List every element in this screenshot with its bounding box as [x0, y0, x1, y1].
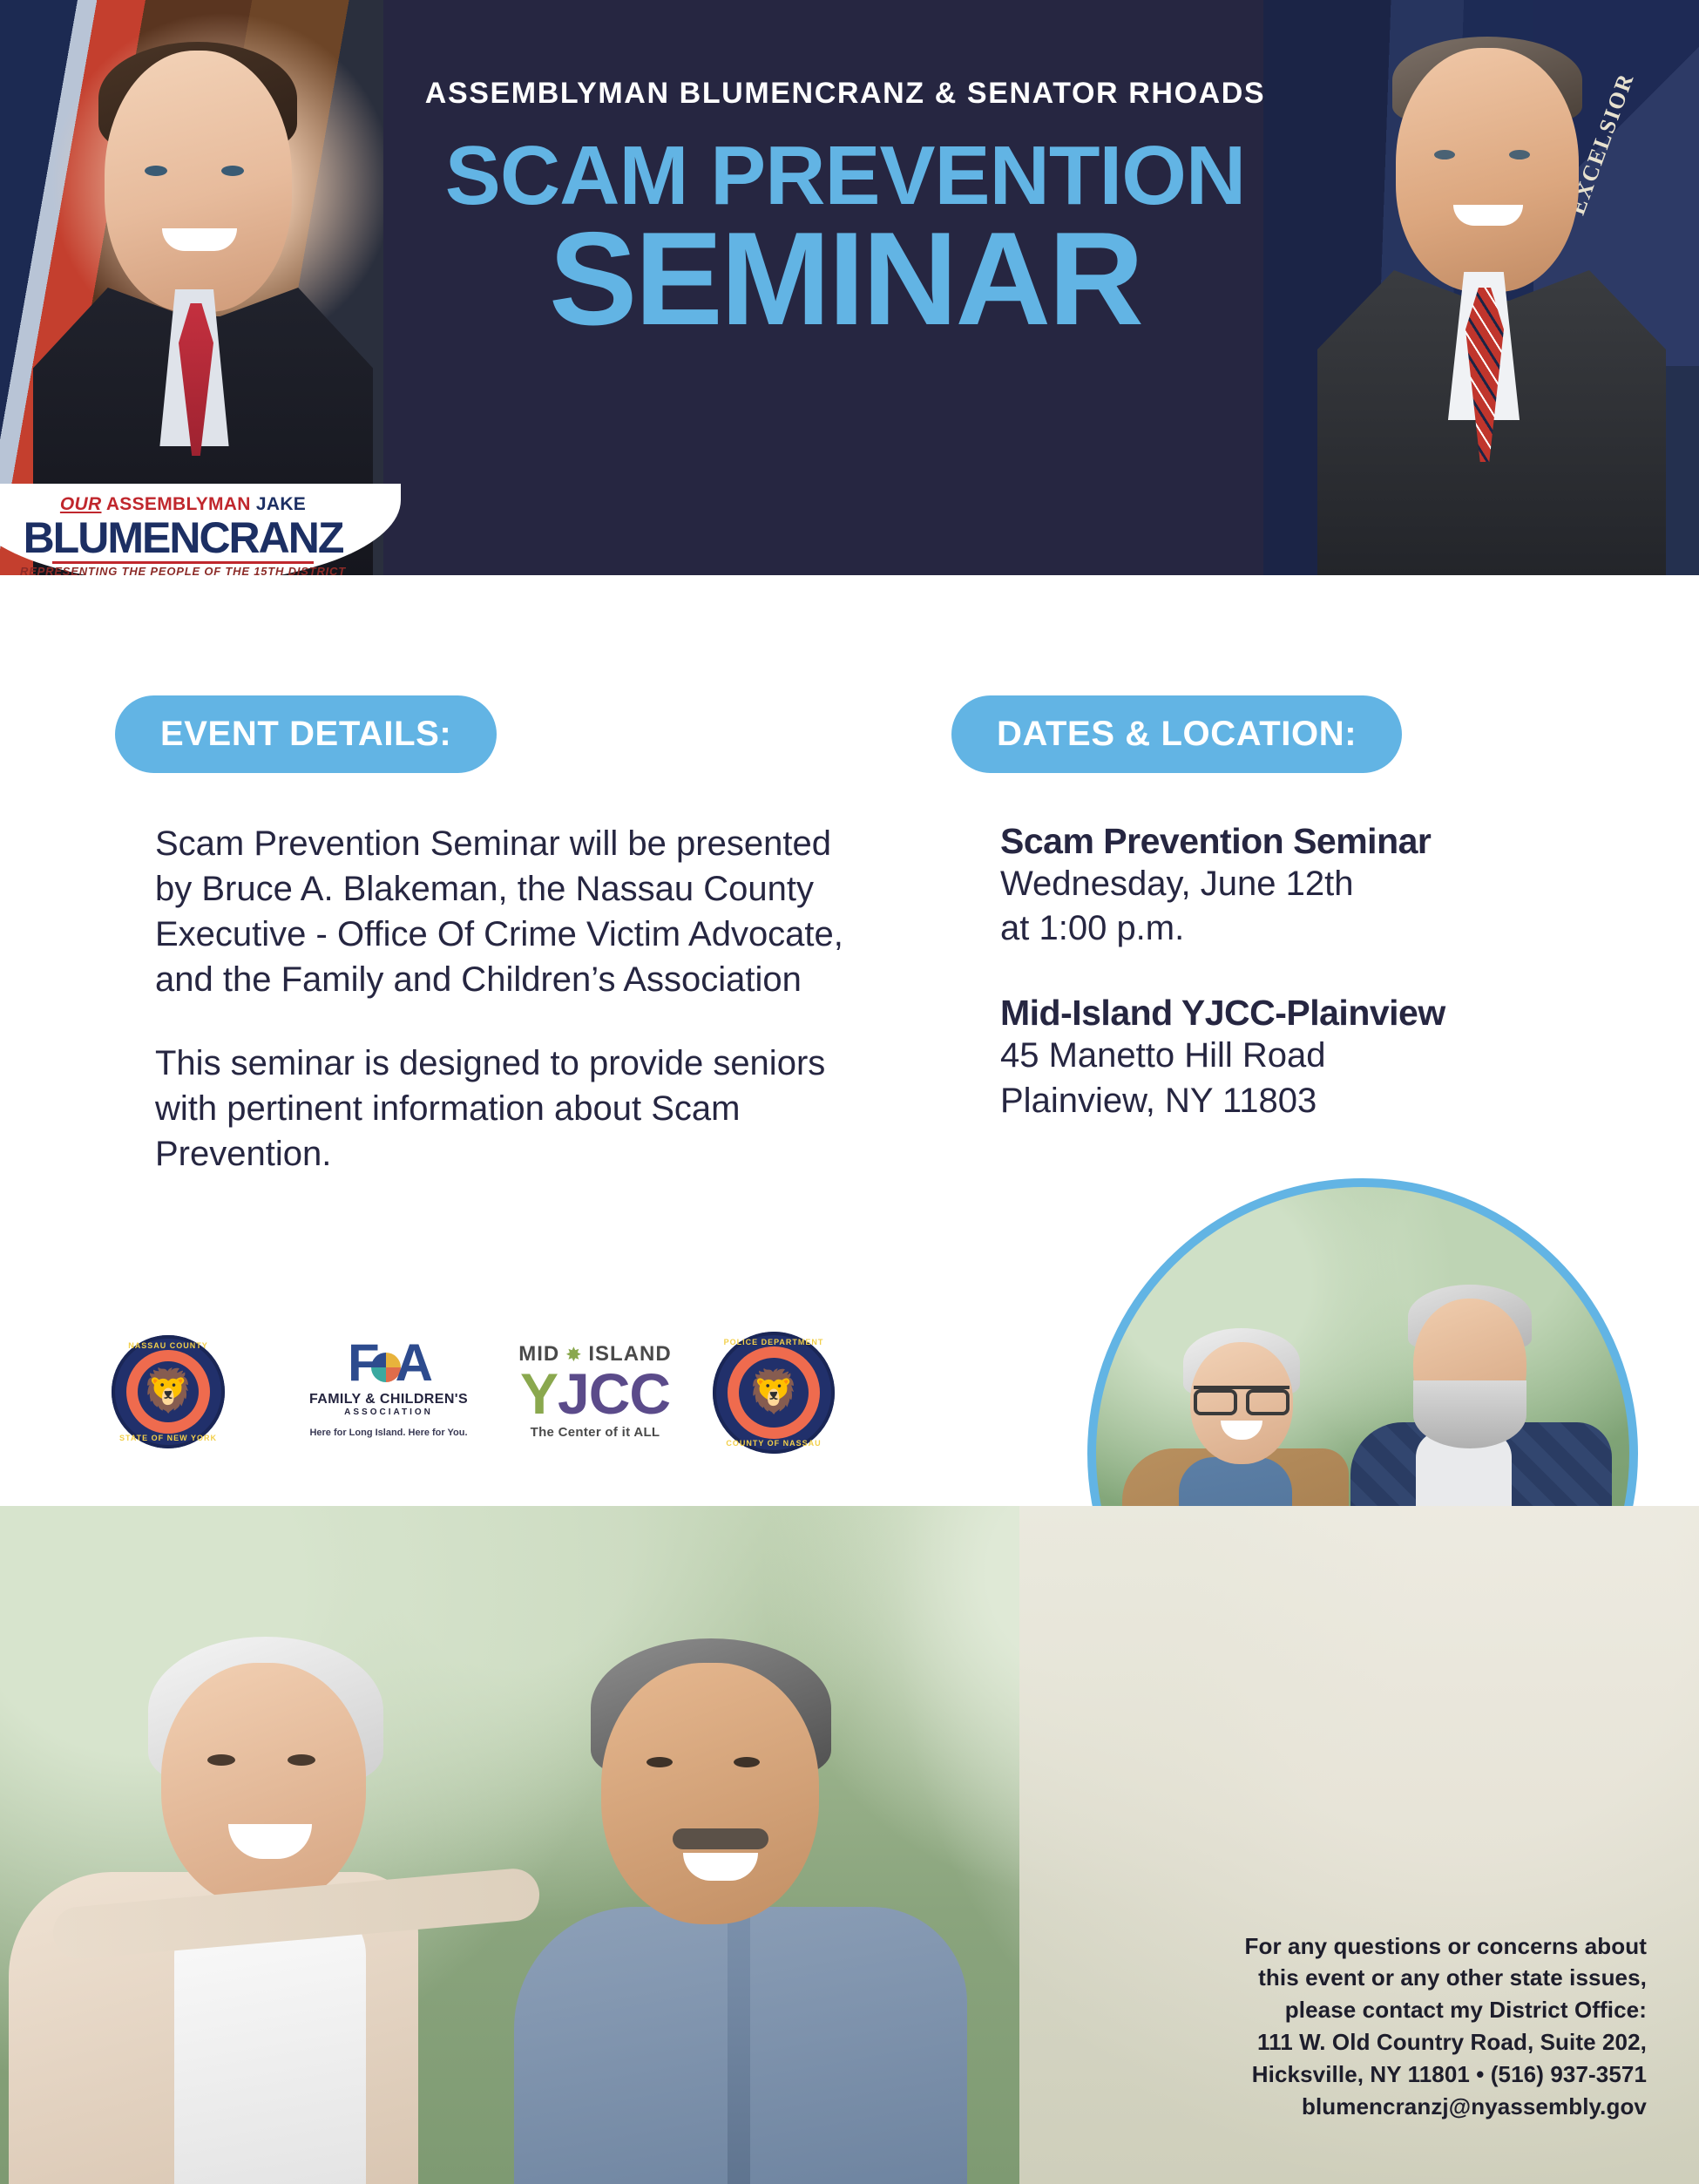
photo-rhoads: EXCELSIOR [1263, 0, 1699, 575]
yjcc-logo: MID ✸ ISLAND YJCC The Center of it ALL [504, 1342, 687, 1440]
fca-logo: FA FAMILY & CHILDREN'S ASSOCIATION Here … [301, 1337, 476, 1438]
decor-eye-right [1509, 150, 1530, 159]
footer-email[interactable]: blumencranzj@nyassembly.gov [1107, 2091, 1647, 2123]
block-line-1: 45 Manetto Hill Road [1000, 1034, 1610, 1078]
footer-address-line: 111 W. Old Country Road, Suite 202, [1107, 2026, 1647, 2059]
event-details-pill: EVENT DETAILS: [115, 695, 497, 773]
decor-moustache [673, 1828, 768, 1849]
decor-eye-left [207, 1754, 235, 1766]
block-line-2: at 1:00 p.m. [1000, 906, 1610, 951]
header-kicker: ASSEMBLYMAN BLUMENCRANZ & SENATOR RHOADS [383, 77, 1307, 111]
blumencranz-logo-badge: OUR ASSEMBLYMAN JAKE BLUMENCRANZ REPRESE… [0, 484, 401, 584]
decor-eye-left [145, 166, 167, 176]
seal-text-bottom: COUNTY OF NASSAU [713, 1439, 835, 1448]
logo-divider [52, 561, 314, 564]
decor-head [161, 1663, 366, 1907]
event-paragraph-2: This seminar is designed to provide seni… [155, 1041, 861, 1177]
fca-subtitle-2: ASSOCIATION [301, 1407, 476, 1417]
decor-eye-right [221, 166, 244, 176]
decor-eye-left [1434, 150, 1455, 159]
decor-smile [1453, 205, 1523, 226]
decor-head [601, 1663, 819, 1924]
nassau-county-seal-icon: NASSAU COUNTY STATE OF NEW YORK 🦁 [112, 1335, 225, 1448]
footer-line-1: For any questions or concerns about [1107, 1930, 1647, 1963]
decor-beard [1413, 1380, 1526, 1448]
footer-city-phone-line: Hicksville, NY 11801 • (516) 937-3571 [1107, 2059, 1647, 2091]
seal-shape: NASSAU COUNTY STATE OF NEW YORK 🦁 [112, 1335, 225, 1448]
fca-subtitle-1: FAMILY & CHILDREN'S [301, 1392, 476, 1407]
logo-word-assemblyman: ASSEMBLYMAN [106, 494, 251, 514]
fca-wordmark: FA [301, 1337, 476, 1389]
seal-text-top: NASSAU COUNTY [112, 1341, 225, 1350]
footer-line-3: please contact my District Office: [1107, 1994, 1647, 2026]
logo-line-top: OUR ASSEMBLYMAN JAKE [60, 494, 306, 515]
yjcc-letters-jcc: JCC [558, 1361, 670, 1426]
block-line-1: Wednesday, June 12th [1000, 862, 1610, 906]
header-title-line2: SEMINAR [383, 219, 1307, 341]
yjcc-tagline: The Center of it ALL [504, 1425, 687, 1440]
glasses-icon [1194, 1386, 1289, 1405]
logo-surname: BLUMENCRANZ [24, 516, 343, 560]
decor-face [105, 51, 292, 312]
lion-icon: 🦁 [748, 1372, 800, 1414]
event-paragraph-1: Scam Prevention Seminar will be presente… [155, 821, 861, 1002]
decor-eye-right [734, 1757, 760, 1767]
decor-face [1396, 48, 1579, 292]
decor-eye-right [288, 1754, 315, 1766]
dates-location-column: Scam Prevention Seminar Wednesday, June … [1000, 821, 1610, 1123]
seal-shape: POLICE DEPARTMENT COUNTY OF NASSAU 🦁 [713, 1332, 835, 1454]
partner-logos-row: NASSAU COUNTY STATE OF NEW YORK 🦁 FA FAM… [112, 1325, 896, 1473]
logo-word-jake: JAKE [256, 494, 306, 514]
police-department-seal-icon: POLICE DEPARTMENT COUNTY OF NASSAU 🦁 [713, 1332, 835, 1454]
logo-tagline: REPRESENTING THE PEOPLE OF THE 15TH DIST… [20, 565, 346, 578]
block-title: Mid-Island YJCC-Plainview [1000, 993, 1610, 1034]
yjcc-letter-y: Y [520, 1361, 558, 1426]
event-block-seminar: Scam Prevention Seminar Wednesday, June … [1000, 821, 1610, 951]
event-details-column: Scam Prevention Seminar will be presente… [155, 821, 861, 1177]
header-text-group: ASSEMBLYMAN BLUMENCRANZ & SENATOR RHOADS… [383, 0, 1307, 341]
seal-text-bottom: STATE OF NEW YORK [112, 1434, 225, 1442]
dates-location-pill: DATES & LOCATION: [951, 695, 1402, 773]
block-title: Scam Prevention Seminar [1000, 821, 1610, 862]
lion-icon: 🦁 [142, 1371, 194, 1413]
yjcc-wordmark: YJCC [504, 1367, 687, 1421]
fca-tagline: Here for Long Island. Here for You. [301, 1428, 476, 1438]
event-block-venue: Mid-Island YJCC-Plainview 45 Manetto Hil… [1000, 993, 1610, 1123]
footer-contact-block: For any questions or concerns about this… [1107, 1930, 1647, 2123]
fca-burst-icon [371, 1353, 401, 1382]
decor-eye-left [646, 1757, 673, 1767]
seal-text-top: POLICE DEPARTMENT [713, 1338, 835, 1346]
logo-word-our: OUR [60, 494, 102, 514]
block-line-2: Plainview, NY 11803 [1000, 1079, 1610, 1123]
footer-line-2: this event or any other state issues, [1107, 1962, 1647, 1994]
decor-placket [728, 1916, 750, 2184]
decor-smile [162, 228, 237, 251]
